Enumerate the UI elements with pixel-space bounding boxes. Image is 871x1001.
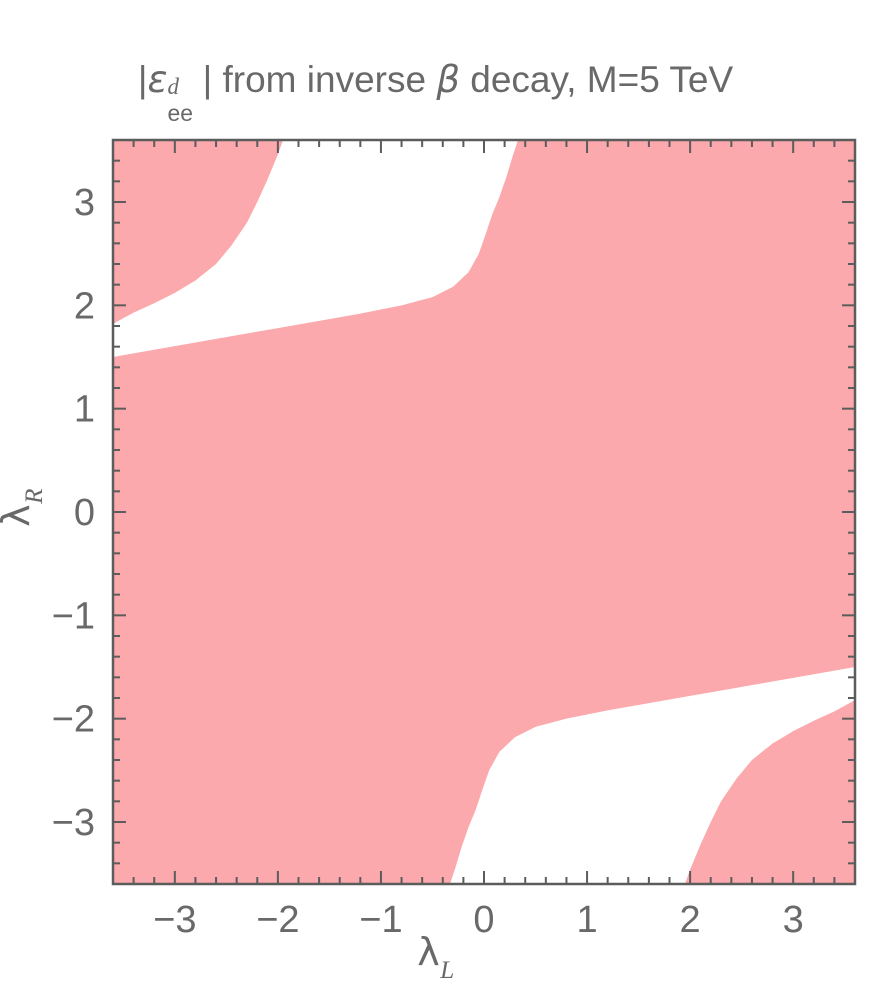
y-tick-label: 3 (74, 182, 95, 224)
y-axis-label-subscript: R (21, 489, 48, 504)
y-tick-label: 1 (74, 389, 95, 431)
shaded-regions (113, 140, 855, 884)
plot-canvas: −3−2−10123 −3−2−10123 (0, 0, 871, 1001)
y-axis-label: λR (0, 468, 45, 548)
y-tick-label: −2 (52, 699, 95, 741)
x-axis-label-subscript: L (440, 957, 454, 984)
y-axis-tick-labels: −3−2−10123 (52, 182, 95, 844)
y-tick-label: −3 (52, 802, 95, 844)
x-axis-label-symbol: λ (417, 930, 440, 974)
y-tick-label: −1 (52, 595, 95, 637)
region-plot-figure: |εdee| from inverse β decay, M=5 TeV −3−… (0, 0, 871, 1001)
y-tick-label: 2 (74, 285, 95, 327)
y-axis-label-symbol: λ (0, 504, 38, 527)
shaded-region-epsilon-constraint (113, 140, 855, 884)
x-axis-label: λL (0, 930, 871, 981)
y-tick-label: 0 (74, 492, 95, 534)
